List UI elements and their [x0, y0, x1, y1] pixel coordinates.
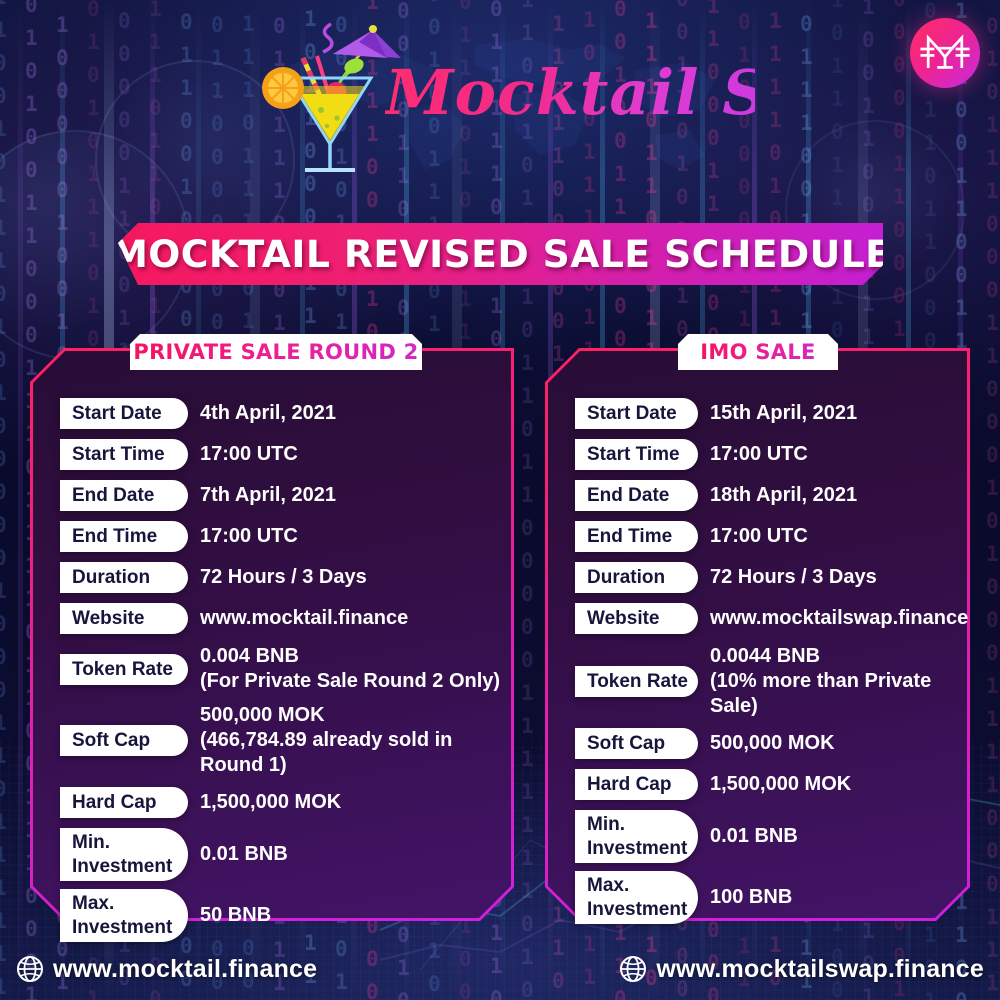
- footer: www.mocktail.finance www.mocktailswap.fi…: [0, 938, 1000, 1000]
- row-label: Token Rate: [587, 666, 684, 697]
- row-label-pill: Start Time: [60, 439, 188, 470]
- row-label: Soft Cap: [72, 725, 174, 756]
- row-label: Token Rate: [72, 654, 174, 685]
- card-tab-private-round-2: PRIVATE SALE ROUND 2: [130, 334, 422, 370]
- row-label: Hard Cap: [72, 787, 174, 818]
- row-label-pill: Min.Investment: [575, 810, 698, 863]
- row-value: 17:00 UTC: [710, 442, 808, 467]
- card-row: End Date18th April, 2021: [545, 480, 970, 511]
- card-row: Start Time17:00 UTC: [30, 439, 514, 470]
- row-label-pill: Hard Cap: [575, 769, 698, 800]
- row-label: End Time: [587, 521, 684, 552]
- footer-link-mocktail[interactable]: www.mocktail.finance: [16, 955, 317, 984]
- card-row: End Time17:00 UTC: [545, 521, 970, 552]
- row-value: 17:00 UTC: [710, 524, 808, 549]
- globe-icon: [16, 955, 44, 983]
- row-label: End Time: [72, 521, 174, 552]
- row-label-pill: Website: [60, 603, 188, 634]
- row-value: 72 Hours / 3 Days: [200, 565, 367, 590]
- card-row: End Date7th April, 2021: [30, 480, 514, 511]
- page-title-banner: MOCKTAIL REVISED SALE SCHEDULE: [118, 223, 883, 285]
- row-label: Start Date: [587, 398, 684, 429]
- mocktail-logo-icon: [910, 18, 980, 88]
- card-row: Start Date15th April, 2021: [545, 398, 970, 429]
- row-value: 72 Hours / 3 Days: [710, 565, 877, 590]
- row-label: End Date: [72, 480, 174, 511]
- card-row: Start Time17:00 UTC: [545, 439, 970, 470]
- row-label-pill: End Date: [60, 480, 188, 511]
- row-label: Duration: [587, 562, 684, 593]
- row-value: 500,000 MOK (466,784.89 already sold in …: [200, 703, 514, 778]
- row-label: Soft Cap: [587, 728, 684, 759]
- row-label-pill: Token Rate: [575, 666, 698, 697]
- row-label: Max.: [587, 874, 682, 898]
- sale-card-private-round-2: PRIVATE SALE ROUND 2 Start Date4th April…: [30, 348, 514, 921]
- row-label: Investment: [72, 855, 172, 879]
- card-tab-label: PRIVATE SALE ROUND 2: [133, 340, 418, 364]
- row-value: 17:00 UTC: [200, 524, 298, 549]
- row-value: 500,000 MOK: [710, 731, 835, 756]
- row-label-pill: Max.Investment: [60, 889, 188, 942]
- row-label-pill: Token Rate: [60, 654, 188, 685]
- row-value: 1,500,000 MOK: [710, 772, 851, 797]
- card-row: Soft Cap 500,000 MOK: [545, 728, 970, 759]
- row-label: Hard Cap: [587, 769, 684, 800]
- brand-name-text: Mocktail Swap: [385, 56, 755, 129]
- row-label: Website: [72, 603, 174, 634]
- row-label: End Date: [587, 480, 684, 511]
- row-label: Investment: [587, 898, 682, 922]
- card-rows: Start Date4th April, 2021Start Time17:00…: [30, 398, 514, 950]
- brand-logo: Mocktail Swap: [255, 18, 755, 183]
- page-title: MOCKTAIL REVISED SALE SCHEDULE: [110, 233, 891, 276]
- row-label: Investment: [587, 837, 682, 861]
- card-row: Duration 72 Hours / 3 Days: [30, 562, 514, 593]
- row-value: 0.0044 BNB (10% more than Private Sale): [710, 644, 970, 719]
- card-row: Hard Cap 1,500,000 MOK: [30, 787, 514, 818]
- row-label-pill: Start Date: [60, 398, 188, 429]
- row-value: 17:00 UTC: [200, 442, 298, 467]
- row-label: Website: [587, 603, 684, 634]
- row-label-pill: Soft Cap: [575, 728, 698, 759]
- cocktail-glass-icon: [255, 18, 405, 178]
- row-label-pill: Min.Investment: [60, 828, 188, 881]
- row-label-pill: Start Time: [575, 439, 698, 470]
- row-value: www.mocktailswap.finance: [710, 606, 968, 631]
- card-row: Hard Cap 1,500,000 MOK: [545, 769, 970, 800]
- row-label-pill: End Date: [575, 480, 698, 511]
- row-label: Min.: [587, 813, 682, 837]
- row-label-pill: Start Date: [575, 398, 698, 429]
- row-label: Duration: [72, 562, 174, 593]
- row-value: 18th April, 2021: [710, 483, 857, 508]
- card-row: Websitewww.mocktailswap.finance: [545, 603, 970, 634]
- row-value: 0.004 BNB (For Private Sale Round 2 Only…: [200, 644, 500, 694]
- brand-name: Mocktail Swap: [385, 56, 755, 176]
- row-value: 50 BNB: [200, 903, 271, 928]
- globe-icon: [619, 955, 647, 983]
- card-row: Token Rate0.0044 BNB (10% more than Priv…: [545, 644, 970, 719]
- card-rows: Start Date15th April, 2021Start Time17:0…: [545, 398, 970, 932]
- card-row: Websitewww.mocktail.finance: [30, 603, 514, 634]
- row-label: Max.: [72, 892, 172, 916]
- row-value: 7th April, 2021: [200, 483, 336, 508]
- row-label-pill: Hard Cap: [60, 787, 188, 818]
- card-tab-imo-sale: IMO SALE: [678, 334, 838, 370]
- card-row: Min.Investment0.01 BNB: [30, 828, 514, 881]
- card-row: Soft Cap500,000 MOK (466,784.89 already …: [30, 703, 514, 778]
- row-value: 15th April, 2021: [710, 401, 857, 426]
- row-label-pill: Website: [575, 603, 698, 634]
- footer-link-label: www.mocktail.finance: [53, 955, 317, 984]
- row-label-pill: Max.Investment: [575, 871, 698, 924]
- footer-link-label: www.mocktailswap.finance: [656, 955, 984, 984]
- row-label: Start Time: [72, 439, 174, 470]
- row-value: 4th April, 2021: [200, 401, 336, 426]
- row-label: Start Date: [72, 398, 174, 429]
- header: Mocktail Swap: [0, 0, 1000, 200]
- row-value: 100 BNB: [710, 885, 792, 910]
- row-label-pill: Duration: [60, 562, 188, 593]
- card-row: Duration 72 Hours / 3 Days: [545, 562, 970, 593]
- sale-card-imo-sale: IMO SALE Start Date15th April, 2021Start…: [545, 348, 970, 921]
- row-label-pill: Duration: [575, 562, 698, 593]
- card-row: Start Date4th April, 2021: [30, 398, 514, 429]
- row-label: Start Time: [587, 439, 684, 470]
- card-row: Token Rate 0.004 BNB (For Private Sale R…: [30, 644, 514, 694]
- row-label-pill: End Time: [575, 521, 698, 552]
- row-label: Min.: [72, 831, 172, 855]
- row-label-pill: End Time: [60, 521, 188, 552]
- card-row: Max.Investment100 BNB: [545, 871, 970, 924]
- card-row: End Time17:00 UTC: [30, 521, 514, 552]
- card-tab-label: IMO SALE: [700, 340, 815, 364]
- row-label-pill: Soft Cap: [60, 725, 188, 756]
- row-value: 1,500,000 MOK: [200, 790, 341, 815]
- row-label: Investment: [72, 916, 172, 940]
- footer-link-mocktailswap[interactable]: www.mocktailswap.finance: [619, 955, 984, 984]
- row-value: 0.01 BNB: [710, 824, 798, 849]
- row-value: www.mocktail.finance: [200, 606, 408, 631]
- card-row: Max.Investment50 BNB: [30, 889, 514, 942]
- card-row: Min.Investment0.01 BNB: [545, 810, 970, 863]
- row-value: 0.01 BNB: [200, 842, 288, 867]
